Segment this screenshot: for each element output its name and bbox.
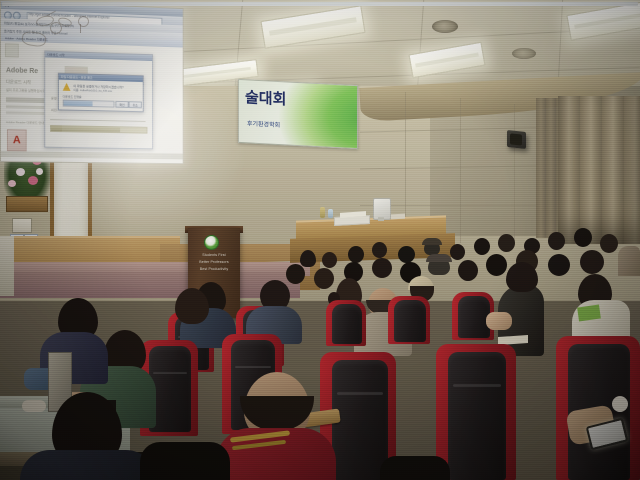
audience-head xyxy=(548,254,570,276)
seat-back xyxy=(458,296,490,338)
audience-head xyxy=(175,288,209,324)
audience-head xyxy=(372,258,392,278)
auditorium-photo: 2 일시 술대회 후기환경학회 시재 http://get.adobe.com/… xyxy=(0,0,640,480)
seat-highlight xyxy=(153,372,187,374)
seat-highlight xyxy=(337,392,383,395)
download-progress-bar xyxy=(63,100,115,108)
audience-head xyxy=(286,264,305,284)
dialog-title: 파일 다운로드 - 보안 경고 xyxy=(61,74,93,80)
dialog-cancel-button[interactable]: 취소 xyxy=(129,101,142,108)
cap xyxy=(426,254,452,262)
podium-slogan-line1: Students First xyxy=(192,253,236,257)
seat-highlight xyxy=(235,366,271,368)
curtain xyxy=(558,96,640,244)
conference-banner-right: 술대회 후기환경학회 xyxy=(238,79,358,149)
foreground-silhouette xyxy=(380,456,450,480)
audience-head xyxy=(300,250,316,267)
seat-highlight xyxy=(453,384,501,387)
app-window-title: 다운로드 시작 xyxy=(47,52,64,58)
hands xyxy=(486,312,512,330)
banner-title: 술대회 xyxy=(245,86,286,109)
flower xyxy=(36,168,43,175)
banner-subtitle: 후기환경학회 xyxy=(247,118,280,129)
audience-body xyxy=(20,450,156,480)
audience-head xyxy=(486,254,507,276)
audience-head xyxy=(372,242,387,258)
adobe-pdf-icon: A xyxy=(7,129,27,151)
podium-slogan-line2: Better Professors xyxy=(192,260,236,264)
seat-back xyxy=(332,304,362,344)
foreground-silhouette xyxy=(140,442,230,480)
audience-head xyxy=(506,262,538,292)
whiteboard-sketch xyxy=(80,24,82,33)
flower-shelf xyxy=(6,196,48,212)
wall-seam xyxy=(460,98,461,243)
page-line1: 다운로드 시작 xyxy=(6,79,31,86)
hand xyxy=(612,396,628,412)
flower xyxy=(16,168,25,176)
monitor-stand xyxy=(378,217,384,221)
audience-head xyxy=(314,268,334,289)
dialog-ok-button[interactable]: 확인 xyxy=(115,101,128,108)
download-security-dialog: 파일 다운로드 - 보안 경고 이 파일을 실행하거나 저장하시겠습니까? 이름… xyxy=(58,73,144,113)
field2-label: 버전: xyxy=(51,107,57,112)
cap xyxy=(422,238,442,245)
audience-head xyxy=(348,246,364,263)
page-footer: Adobe Reader 다운로드 안내 xyxy=(6,119,44,125)
audience-head xyxy=(458,260,478,281)
audience-head xyxy=(322,252,337,268)
audience-head xyxy=(574,228,592,247)
audience-head xyxy=(398,246,415,263)
water-bottle xyxy=(320,207,325,218)
shoe xyxy=(22,400,46,412)
water-bottle xyxy=(328,209,333,218)
audience-head xyxy=(600,234,618,253)
audience-head xyxy=(474,238,490,255)
flower xyxy=(28,176,38,185)
audience-head xyxy=(450,244,465,260)
flower xyxy=(8,180,16,187)
audience-body xyxy=(618,246,640,276)
warning-icon xyxy=(63,83,71,91)
wall-speaker-icon xyxy=(507,130,526,149)
audience-head xyxy=(498,234,515,252)
page-logo xyxy=(5,43,19,57)
seat-back xyxy=(394,300,426,342)
wall-seam xyxy=(514,104,515,244)
ceiling-vent xyxy=(432,20,458,33)
audience-head xyxy=(580,250,604,274)
podium-slogan-line3: Best Productivity xyxy=(192,267,236,271)
page-heading: Adobe Re xyxy=(6,67,38,75)
projection-screen: 시재 http://get.adobe.com/kr/reader/ - Win… xyxy=(0,0,184,164)
papers xyxy=(391,214,405,220)
wall-control-panel[interactable] xyxy=(12,218,32,233)
stage-platform-front xyxy=(0,272,300,298)
left-wall-edge xyxy=(0,236,14,296)
seat-back xyxy=(448,352,506,480)
university-emblem-icon xyxy=(204,235,219,250)
progress-label: 다운로드 진행률: xyxy=(63,95,83,99)
audience-head xyxy=(548,232,565,250)
page-line2: 설치 프로그램을 실행하십시오 xyxy=(6,87,45,93)
adobe-pdf-icon-glyph: A xyxy=(13,134,21,146)
ceiling-vent xyxy=(512,48,536,59)
dialog-detail: 이름: AdbeRdr1010_ko_KR.exe xyxy=(73,88,112,93)
